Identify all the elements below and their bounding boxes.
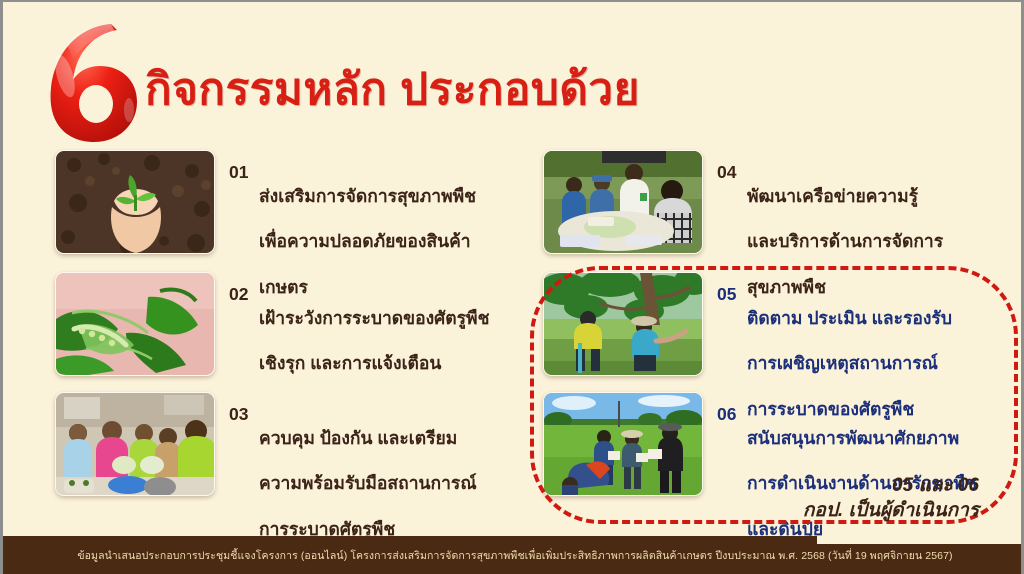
item-number-04: 04: [717, 162, 736, 183]
slide-footer: ข้อมูลนำเสนอประกอบการประชุมชี้แจงโครงการ…: [3, 536, 1024, 574]
right-column: พัฒนาเครือข่ายความรู้ และบริการด้านการจั…: [543, 150, 1024, 512]
activity-line: พัฒนาเครือข่ายความรู้: [721, 185, 943, 208]
slide-header: กิจกรรมหลัก ประกอบด้วย: [3, 2, 1024, 142]
activity-line: สนับสนุนการพัฒนาศักยภาพ: [721, 427, 977, 450]
slide-canvas: กิจกรรมหลัก ประกอบด้วย: [0, 0, 1024, 574]
left-column: ส่งเสริมการจัดการสุขภาพพืช เพื่อความปลอด…: [55, 150, 535, 512]
activity-item-05: ติดตาม ประเมิน และรองรับ การเผชิญเหตุสถา…: [543, 272, 1024, 392]
activity-line: ส่งเสริมการจัดการสุขภาพพืช: [233, 185, 476, 208]
activity-line: การเผชิญเหตุสถานการณ์: [721, 352, 952, 375]
item-number-02: 02: [229, 284, 248, 305]
footer-text: ข้อมูลนำเสนอประกอบการประชุมชี้แจงโครงการ…: [3, 547, 1024, 564]
item-number-01: 01: [229, 162, 248, 183]
activity-text-02: เฝ้าระวังการระบาดของศัตรูพืช เชิงรุก และ…: [215, 272, 489, 398]
item-number-03: 03: [229, 404, 248, 425]
big-number-six-icon: [37, 18, 155, 144]
activity-line: เชิงรุก และการแจ้งเตือน: [233, 352, 489, 375]
rice-field-survey-photo: [543, 392, 703, 496]
farmer-group-training-photo: [55, 392, 215, 496]
hands-holding-seedling-photo: [55, 150, 215, 254]
activity-line: และบริการด้านการจัดการ: [721, 230, 943, 253]
activity-item-02: เฝ้าระวังการระบาดของศัตรูพืช เชิงรุก และ…: [55, 272, 535, 392]
item-number-05: 05: [717, 284, 736, 305]
activity-item-04: พัฒนาเครือข่ายความรู้ และบริการด้านการจั…: [543, 150, 1024, 272]
item-number-06: 06: [717, 404, 736, 425]
activity-line: ควบคุม ป้องกัน และเตรียม: [233, 427, 477, 450]
activity-line: เพื่อความปลอดภัยของสินค้า: [233, 230, 476, 253]
outdoor-meeting-photo: [543, 150, 703, 254]
activity-line: ความพร้อมรับมือสถานการณ์: [233, 472, 477, 495]
responsible-unit-note: 05 และ 06 กอป. เป็นผู้ดำเนินการ: [803, 474, 979, 523]
footer-notch: [817, 536, 1024, 544]
activity-line: ติดตาม ประเมิน และรองรับ: [721, 307, 952, 330]
activity-item-01: ส่งเสริมการจัดการสุขภาพพืช เพื่อความปลอด…: [55, 150, 535, 272]
caterpillar-on-leaf-photo: [55, 272, 215, 376]
activity-line: เฝ้าระวังการระบาดของศัตรูพืช: [233, 307, 489, 330]
page-title: กิจกรรมหลัก ประกอบด้วย: [145, 54, 640, 124]
tree-inspection-photo: [543, 272, 703, 376]
note-line-1: 05 และ 06: [803, 474, 979, 499]
activity-item-03: ควบคุม ป้องกัน และเตรียม ความพร้อมรับมือ…: [55, 392, 535, 512]
note-line-2: กอป. เป็นผู้ดำเนินการ: [803, 499, 979, 524]
